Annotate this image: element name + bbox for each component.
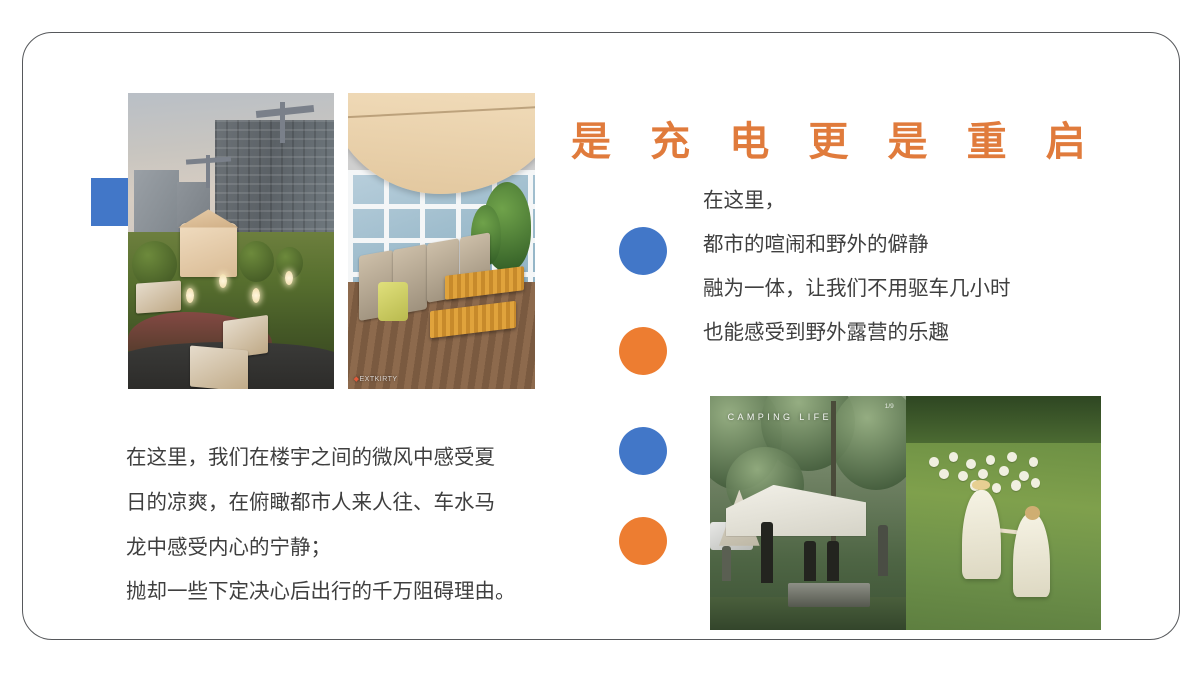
camp-chair-3: [136, 281, 181, 314]
meadow-half: [906, 396, 1102, 630]
watermark-text: EXTKIRTY: [360, 376, 398, 383]
right-paragraph: 在这里， 都市的喧闹和野外的僻静 融为一体，让我们不用驱车几小时 也能感受到野外…: [703, 179, 1113, 355]
yellow-backpack: [378, 282, 408, 320]
slide-frame: ◆EXTKIRTY 是 充 电 更 是 重 启 在这里， 都市的喧闹和野外的僻静…: [22, 32, 1180, 640]
photo-camping-life-meadow: CAMPING LIFE 1/9: [710, 396, 1101, 630]
bullet-circle-1: [619, 227, 667, 275]
sheep-5: [1007, 452, 1017, 462]
photo-watermark: ◆EXTKIRTY: [354, 375, 398, 383]
garden-lamp-2: [252, 288, 260, 303]
canvas-tent: [180, 223, 238, 276]
left-paragraph-line-2: 日的凉爽，在俯瞰都市人来人往、车水马: [126, 480, 596, 525]
left-paragraph-line-4: 抛却一些下定决心后出行的千万阻碍理由。: [126, 570, 596, 614]
camper-4: [878, 525, 888, 576]
sheep-13: [992, 483, 1002, 493]
crane-mast-1: [280, 102, 285, 143]
left-paragraph-line-1: 在这里，我们在楼宇之间的微风中感受夏: [126, 435, 596, 480]
camper-2: [804, 541, 816, 581]
sheep-7: [939, 469, 949, 479]
sheep-2: [949, 452, 959, 462]
sheep-1: [929, 457, 939, 467]
garden-lamp-1: [219, 274, 227, 289]
sheep-10: [999, 466, 1009, 476]
camp-chair-2: [190, 345, 248, 389]
sheep-15: [1031, 478, 1041, 488]
page-title: 是 充 电 更 是 重 启: [571, 109, 1100, 167]
crane-mast-2: [206, 155, 209, 188]
camper-5: [722, 546, 732, 581]
sheep-6: [1029, 457, 1039, 467]
right-paragraph-line-2: 都市的喧闹和野外的僻静: [703, 223, 1113, 267]
blue-accent-square: [91, 178, 129, 226]
tree-line: [906, 396, 1102, 443]
camping-gear-boxes: [788, 583, 870, 606]
garden-lamp-4: [186, 288, 194, 303]
bullet-circle-2: [619, 327, 667, 375]
sheep-8: [958, 471, 968, 481]
bullet-circle-4: [619, 517, 667, 565]
camping-life-page-indicator: 1/9: [885, 403, 894, 410]
bullet-circle-3: [619, 427, 667, 475]
left-paragraph-line-3: 龙中感受内心的宁静；: [126, 525, 596, 570]
right-paragraph-line-1: 在这里，: [703, 179, 1113, 223]
left-paragraph: 在这里，我们在楼宇之间的微风中感受夏 日的凉爽，在俯瞰都市人来人往、车水马 龙中…: [126, 435, 596, 614]
foliage-3: [831, 396, 905, 490]
camper-3: [827, 541, 839, 581]
sheep-3: [966, 459, 976, 469]
sheep-4: [986, 455, 996, 465]
sheep-14: [1011, 480, 1021, 490]
garden-lamp-3: [285, 271, 293, 286]
camper-1: [761, 522, 773, 583]
woman-in-white-2: [1013, 513, 1050, 597]
photo-canopy-terrace: ◆EXTKIRTY: [348, 93, 535, 389]
camping-life-overlay-title: CAMPING LIFE: [728, 412, 832, 422]
straw-hat-icon: [972, 480, 990, 489]
camping-life-half: CAMPING LIFE 1/9: [710, 396, 906, 630]
sheep-11: [1019, 471, 1029, 481]
right-paragraph-line-3: 融为一体，让我们不用驱车几小时: [703, 267, 1113, 311]
right-paragraph-line-4: 也能感受到野外露营的乐趣: [703, 311, 1113, 355]
sheep-9: [978, 469, 988, 479]
photo-rooftop-camping: [128, 93, 334, 389]
woman-in-white-1: [962, 490, 1001, 579]
